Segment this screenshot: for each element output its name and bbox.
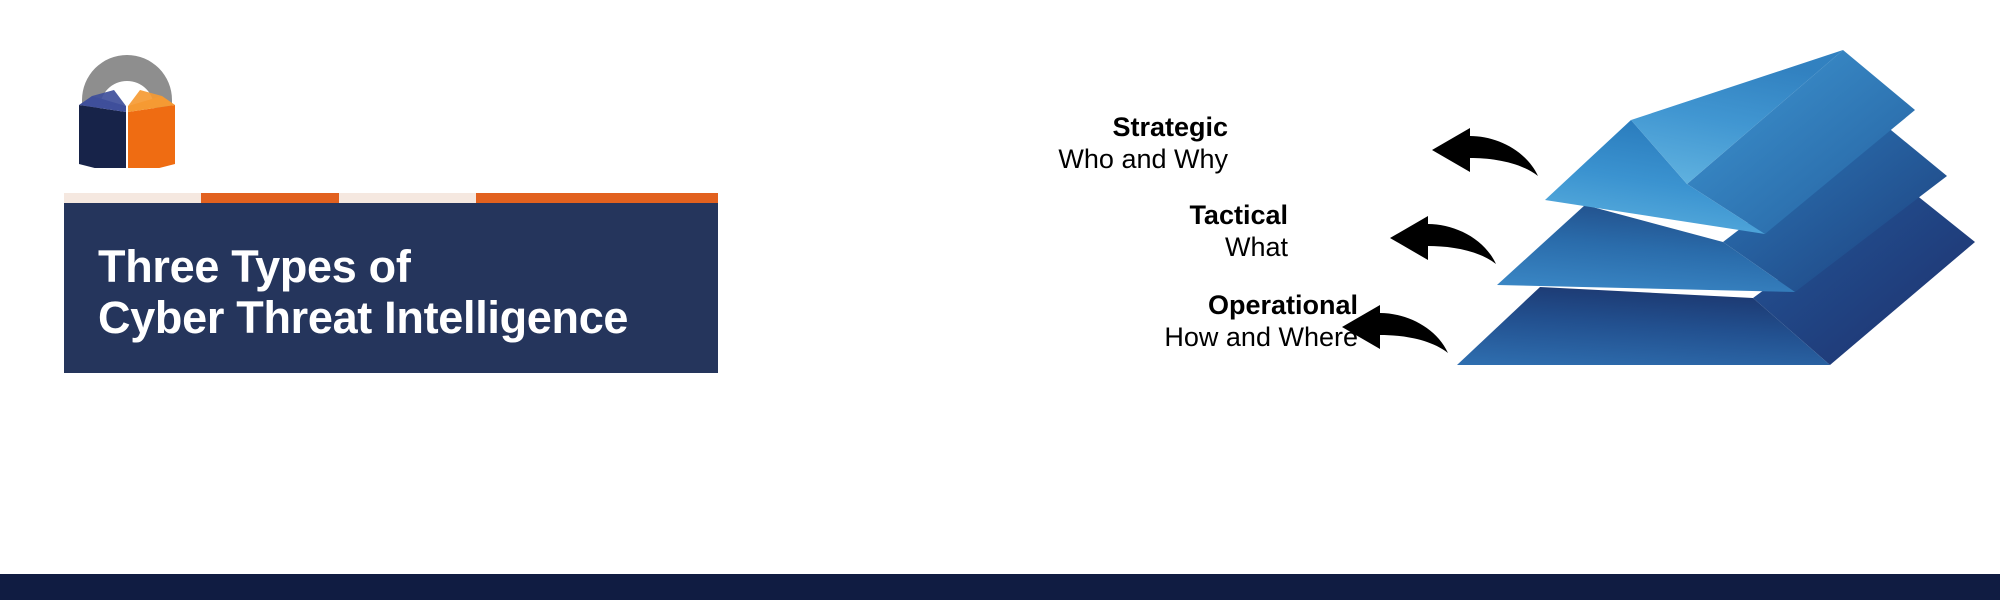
cti-pyramid-diagram: Strategic Who and Why Tactical What Oper… bbox=[1040, 20, 1980, 390]
accent-segment-2 bbox=[201, 193, 338, 203]
tier-label-tactical: Tactical What bbox=[1189, 200, 1288, 264]
page-title: Three Types of Cyber Threat Intelligence bbox=[98, 241, 628, 344]
arrow-operational bbox=[1340, 305, 1450, 366]
logo-spine bbox=[126, 106, 128, 168]
tier-label-strategic: Strategic Who and Why bbox=[1058, 112, 1228, 176]
brand-logo bbox=[62, 28, 192, 168]
accent-segment-1 bbox=[64, 193, 201, 203]
banner-body: Three Types of Cyber Threat Intelligence bbox=[64, 203, 718, 373]
pyramid-graphic bbox=[1435, 20, 1980, 390]
tier-label-operational: Operational How and Where bbox=[1164, 290, 1358, 354]
tier-label-strategic-title: Strategic bbox=[1058, 112, 1228, 144]
accent-segment-4 bbox=[476, 193, 718, 203]
curved-left-arrow-icon bbox=[1342, 305, 1448, 353]
title-banner: Three Types of Cyber Threat Intelligence bbox=[64, 193, 718, 373]
logo-left-panel bbox=[79, 105, 126, 168]
footer-bar bbox=[0, 574, 2000, 600]
banner-accent-strip bbox=[64, 193, 718, 203]
tier-label-operational-title: Operational bbox=[1164, 290, 1358, 322]
accent-segment-3 bbox=[339, 193, 476, 203]
tier-label-tactical-title: Tactical bbox=[1189, 200, 1288, 232]
tier-label-operational-sub: How and Where bbox=[1164, 322, 1358, 354]
logo-right-panel bbox=[128, 105, 175, 168]
tier-label-tactical-sub: What bbox=[1189, 232, 1288, 264]
tier-label-strategic-sub: Who and Why bbox=[1058, 144, 1228, 176]
slide-canvas: Three Types of Cyber Threat Intelligence… bbox=[0, 0, 2000, 600]
